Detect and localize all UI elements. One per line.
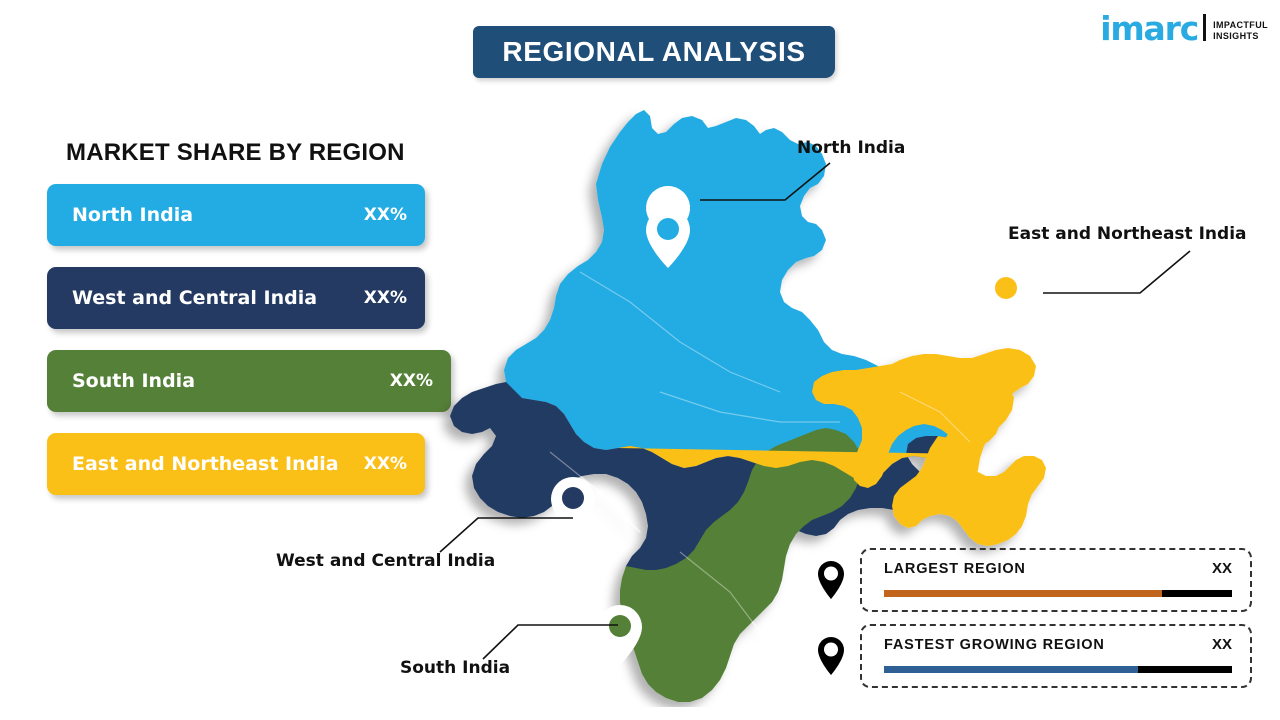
market-share-legend: North India XX% West and Central India X… xyxy=(47,184,437,516)
legend-label: East and Northeast India xyxy=(72,453,364,475)
stat-largest-region[interactable]: LARGEST REGION XX xyxy=(816,548,1252,612)
map-pin-south-india xyxy=(598,605,642,665)
india-regional-map[interactable] xyxy=(430,92,1090,707)
largest-region-label: LARGEST REGION xyxy=(884,561,1026,577)
fastest-growing-region-progress-track xyxy=(884,666,1232,673)
stat-fastest-growing-region[interactable]: FASTEST GROWING REGION XX xyxy=(816,624,1252,688)
map-pin-icon xyxy=(816,560,846,600)
largest-region-progress-fill xyxy=(884,590,1162,597)
map-pin-icon xyxy=(816,636,846,676)
legend-value: XX% xyxy=(364,288,407,308)
logo-divider xyxy=(1203,14,1206,41)
callout-label-east-and-northeast-india: East and Northeast India xyxy=(1008,224,1247,244)
legend-value: XX% xyxy=(390,371,433,391)
legend-value: XX% xyxy=(364,454,407,474)
page-title-banner: REGIONAL ANALYSIS xyxy=(473,26,835,78)
logo-tagline-line2: INSIGHTS xyxy=(1213,31,1268,41)
callout-label-west-and-central-india: West and Central India xyxy=(276,551,495,571)
largest-region-value: XX xyxy=(1212,560,1232,577)
largest-region-progress-track xyxy=(884,590,1232,597)
logo-tagline: IMPACTFUL INSIGHTS xyxy=(1213,20,1268,41)
callout-label-north-india: North India xyxy=(797,138,905,158)
map-pin-west-and-central-india xyxy=(551,477,595,537)
fastest-growing-region-label: FASTEST GROWING REGION xyxy=(884,637,1105,653)
callout-label-south-india: South India xyxy=(400,658,510,678)
fastest-growing-region-value: XX xyxy=(1212,636,1232,653)
legend-label: North India xyxy=(72,204,364,226)
logo-wordmark: imarc xyxy=(1100,14,1198,44)
fastest-growing-region-progress-fill xyxy=(884,666,1138,673)
imarc-logo: imarc IMPACTFUL INSIGHTS xyxy=(1100,14,1268,44)
logo-tagline-line1: IMPACTFUL xyxy=(1213,20,1268,30)
legend-value: XX% xyxy=(364,205,407,225)
market-share-heading: MARKET SHARE BY REGION xyxy=(66,139,405,167)
slide-canvas: REGIONAL ANALYSIS imarc IMPACTFUL INSIGH… xyxy=(0,0,1280,720)
legend-row-west-and-central-india[interactable]: West and Central India XX% xyxy=(47,267,425,329)
map-pin-east-and-northeast-india xyxy=(984,267,1028,327)
legend-label: South India xyxy=(72,370,390,392)
largest-region-box: LARGEST REGION XX xyxy=(860,548,1252,612)
page-title: REGIONAL ANALYSIS xyxy=(502,36,805,68)
legend-row-north-india[interactable]: North India XX% xyxy=(47,184,425,246)
fastest-growing-region-box: FASTEST GROWING REGION XX xyxy=(860,624,1252,688)
legend-label: West and Central India xyxy=(72,287,364,309)
legend-row-south-india[interactable]: South India XX% xyxy=(47,350,451,412)
legend-row-east-and-northeast-india[interactable]: East and Northeast India XX% xyxy=(47,433,425,495)
